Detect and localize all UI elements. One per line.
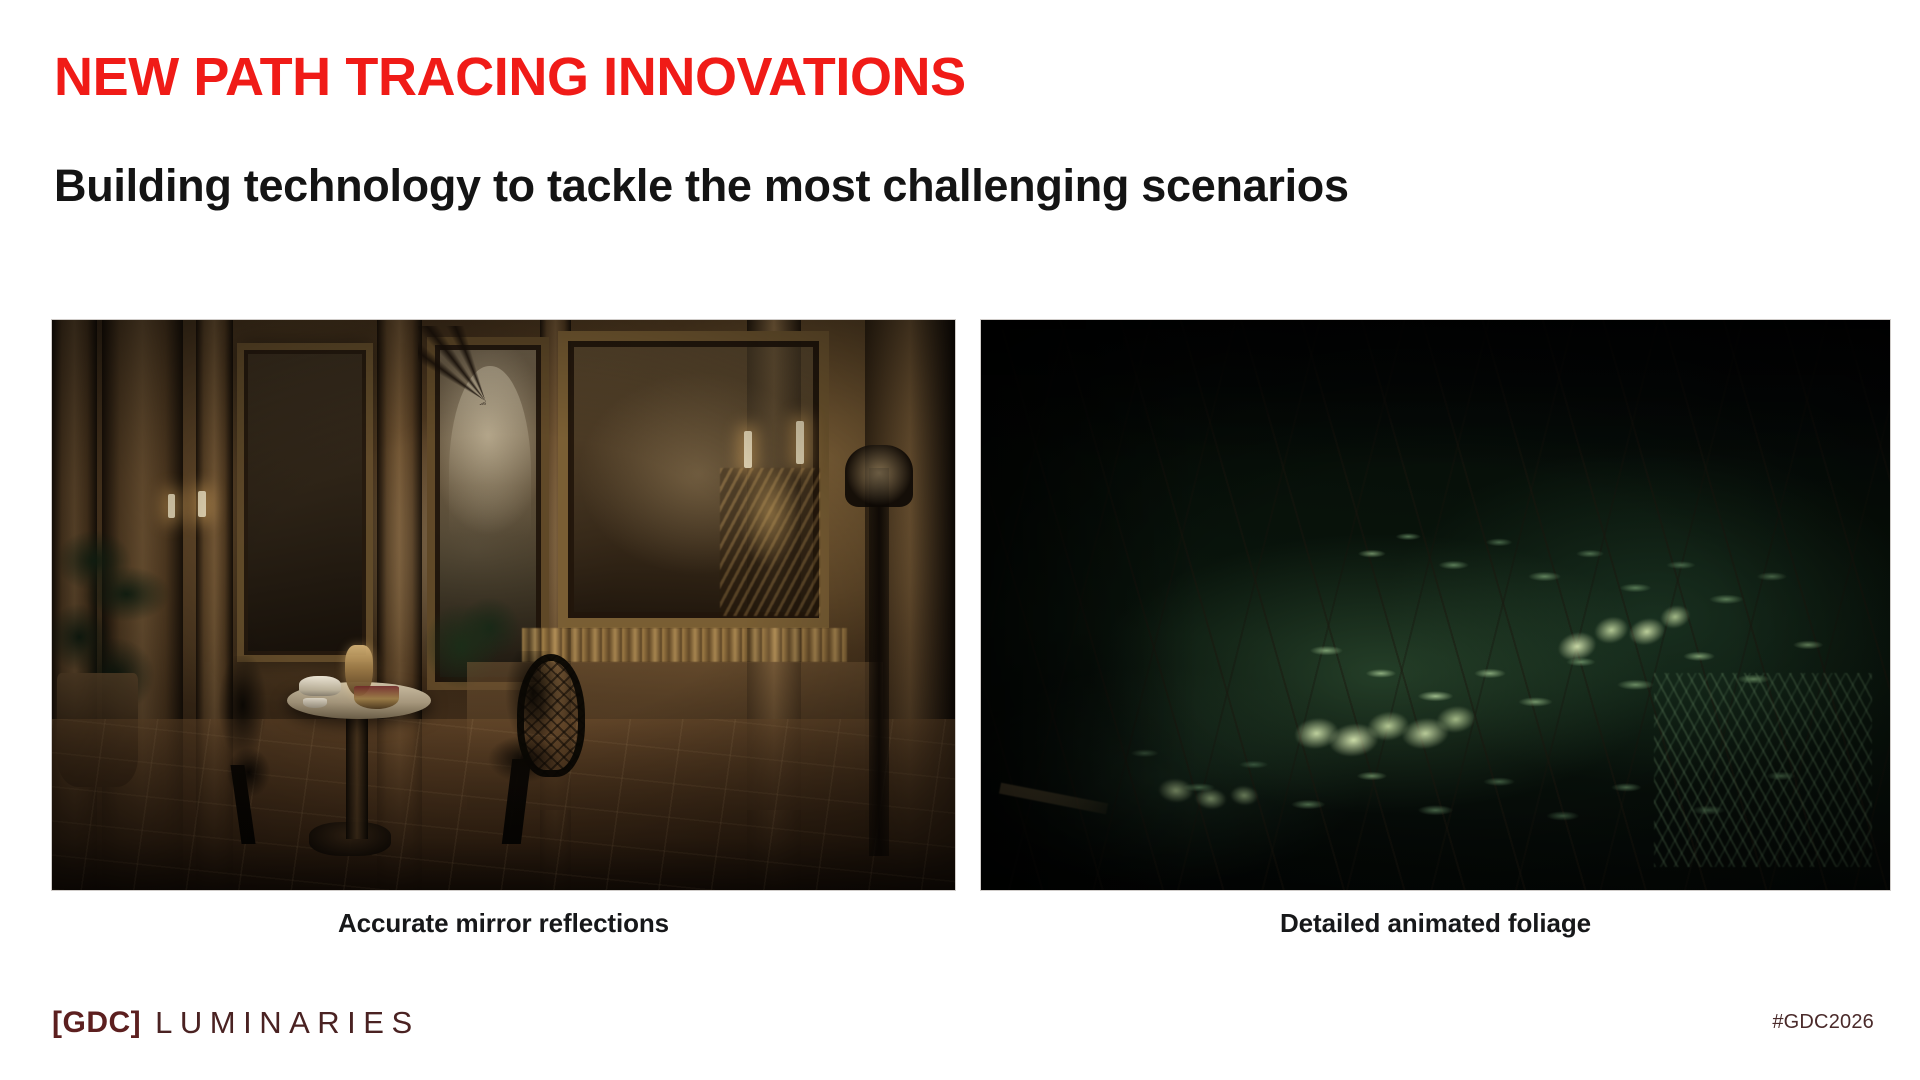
teacup bbox=[303, 698, 326, 708]
image-ornate-interior bbox=[52, 320, 955, 890]
iron-floor-lamp bbox=[869, 468, 889, 856]
tall-mirror bbox=[237, 343, 372, 662]
luminaries-wordmark: LUMINARIES bbox=[155, 1007, 419, 1038]
gdc-luminaries-logo: [GDC] LUMINARIES bbox=[52, 1007, 420, 1038]
foliage-scene bbox=[981, 320, 1890, 890]
page-title: NEW PATH TRACING INNOVATIONS bbox=[54, 46, 966, 108]
page-subtitle: Building technology to tackle the most c… bbox=[54, 160, 1349, 212]
fruit-bowl bbox=[354, 686, 399, 709]
figure-caption-right: Detailed animated foliage bbox=[981, 908, 1890, 939]
event-hashtag: #GDC2026 bbox=[1772, 1011, 1874, 1034]
wrought-iron-chair bbox=[467, 651, 584, 845]
fern-fronds bbox=[1654, 673, 1872, 867]
sunburst-crest-ornament bbox=[418, 326, 553, 406]
wall-sconce bbox=[720, 468, 819, 616]
figure-row: Accurate mirror reflections bbox=[52, 320, 1890, 890]
image-dark-foliage bbox=[981, 320, 1890, 890]
gdc-logo-mark: [GDC] bbox=[52, 1008, 141, 1038]
table-stem bbox=[346, 713, 368, 838]
interior-scene bbox=[52, 320, 955, 890]
figure-mirror-reflections: Accurate mirror reflections bbox=[52, 320, 955, 890]
slide-canvas: NEW PATH TRACING INNOVATIONS Building te… bbox=[0, 0, 1920, 1080]
candle-flame bbox=[796, 421, 804, 464]
figure-animated-foliage: Detailed animated foliage bbox=[981, 320, 1890, 890]
teapot bbox=[299, 676, 341, 695]
candle-flame bbox=[744, 431, 752, 468]
figure-caption-left: Accurate mirror reflections bbox=[52, 908, 955, 939]
